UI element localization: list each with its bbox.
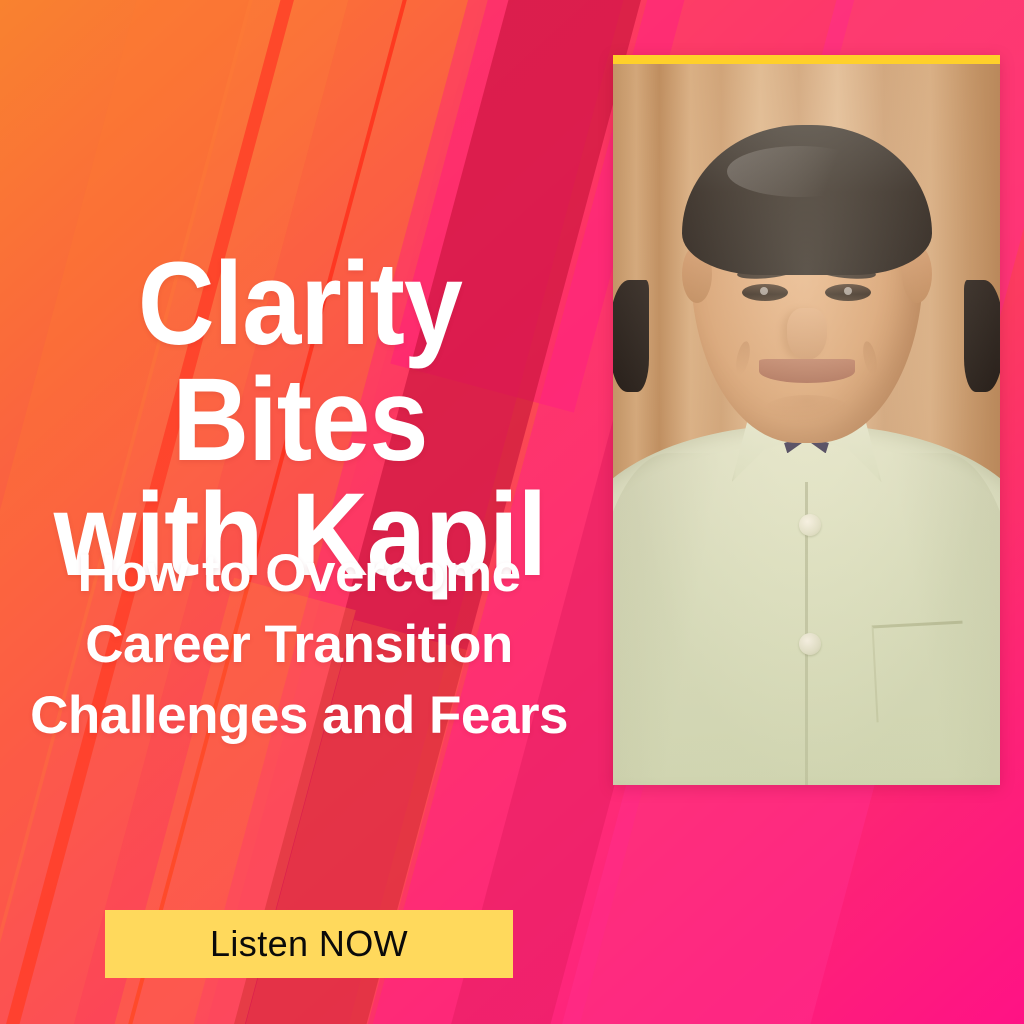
listen-now-button[interactable]: Listen NOW [105,910,513,978]
neck [748,319,866,439]
hair-side-right [964,280,1000,392]
hair-side-left [613,280,649,392]
title-line-1: Clarity Bites [138,238,462,486]
episode-subtitle: How to Overcome Career Transition Challe… [6,538,592,751]
chin [764,395,850,425]
host-photo-card [613,55,1000,785]
stripe-dark-left [0,0,28,1024]
eye-right [825,284,871,301]
mandarin-collar [732,396,882,482]
smile-line-right [861,340,880,376]
podcast-promo-poster: Clarity Bites with Kapil How to Overcome… [0,0,1024,1024]
ear-right [902,245,932,303]
jacket-button-upper [799,514,821,536]
nose [787,308,827,360]
jacket-shadow-left [613,453,721,785]
jacket-pocket [872,621,968,722]
jacket-placket [805,482,808,785]
ear-left [682,245,712,303]
hair [682,125,932,275]
face [691,143,923,443]
jacket-button-lower [799,633,821,655]
host-photo [613,64,1000,785]
eyebrow-left [736,262,799,281]
inner-shirt [759,391,855,453]
jacket-shadow-right [892,453,1000,785]
smile-line-left [733,340,752,376]
mouth [759,359,855,383]
jacket [613,425,1000,786]
eye-left [742,284,788,301]
eyebrow-right [814,262,877,281]
